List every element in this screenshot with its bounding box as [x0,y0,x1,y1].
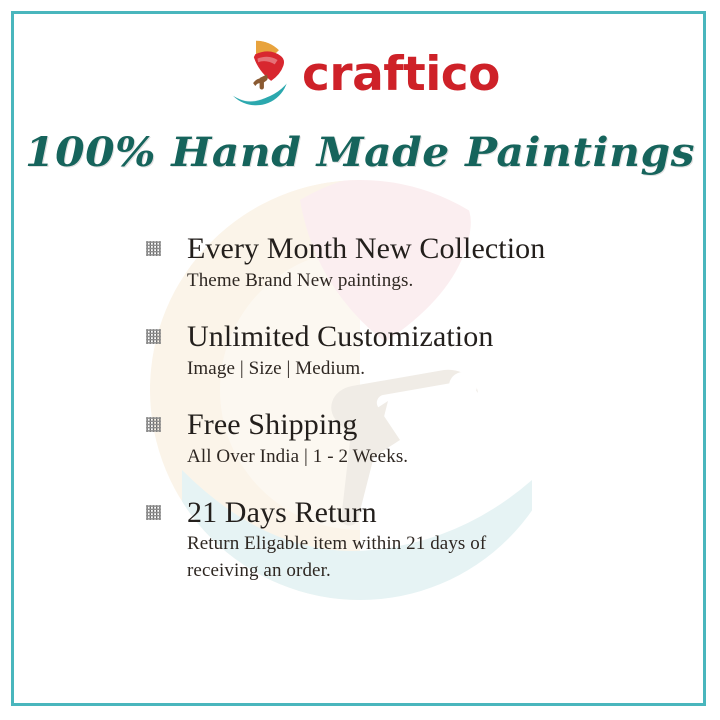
headline-text: 100% Hand Made Paintings [25,131,695,175]
list-item: Unlimited Customization Image | Size | M… [145,320,615,383]
woven-square-bullet-icon [145,416,162,433]
feature-description: Image | Size | Medium. [187,356,615,383]
woven-square-bullet-icon [145,504,162,521]
feature-title: Every Month New Collection [187,232,615,266]
feature-list: Every Month New Collection Theme Brand N… [145,232,615,585]
list-item: Free Shipping All Over India | 1 - 2 Wee… [145,408,615,471]
feature-title: Free Shipping [187,408,615,442]
feature-description: All Over India | 1 - 2 Weeks. [187,444,615,471]
feature-title: 21 Days Return [187,496,615,530]
woven-square-bullet-icon [145,240,162,257]
brand-wordmark: craftico [302,51,500,98]
woven-square-bullet-icon [145,328,162,345]
feature-description: Theme Brand New paintings. [187,268,615,295]
headline: 100% Hand Made Paintings [0,131,720,175]
list-item: Every Month New Collection Theme Brand N… [145,232,615,295]
feature-title: Unlimited Customization [187,320,615,354]
promo-banner: craftico 100% Hand Made Paintings Every … [0,0,720,720]
craftico-c-paintbrush-logo-icon [220,37,292,109]
list-item: 21 Days Return Return Eligable item with… [145,496,615,586]
brand-logo: craftico [0,36,720,110]
feature-description: Return Eligable item within 21 days of r… [187,531,557,585]
